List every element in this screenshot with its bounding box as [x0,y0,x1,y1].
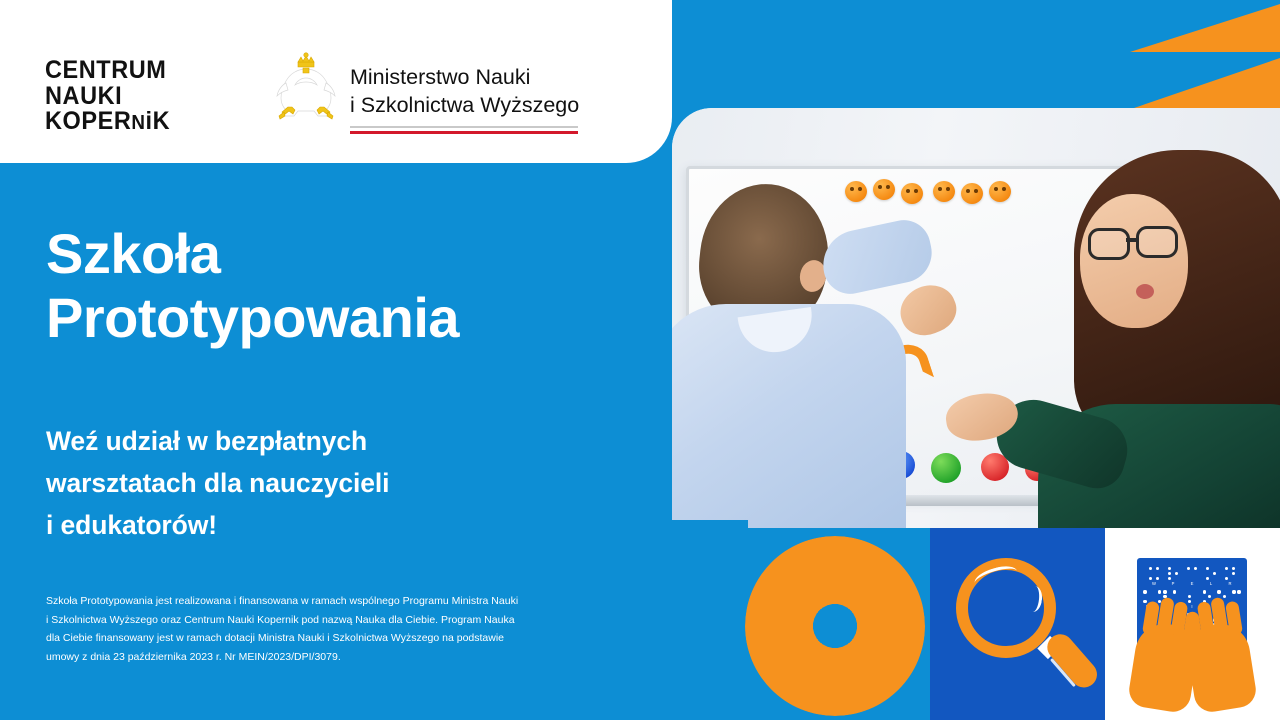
braille-dots [1224,567,1237,580]
headline-line-2: Prototypowania [46,286,459,350]
ministry-line-1: Ministerstwo Nauki [350,63,579,91]
headline-line-1: Szkoła [46,222,459,286]
polish-eagle-emblem [272,52,340,134]
braille-cell: W [1148,567,1161,586]
braille-letter-label: I [1188,604,1197,609]
face-magnet [845,181,867,202]
subhead-line-1: Weź udział w bezpłatnych [46,420,389,462]
braille-letter-label: R [1224,581,1237,586]
braille-letter-label: E [1186,581,1199,586]
cnk-line-3: KOPERNiK [45,109,170,137]
braille-hand-right [1184,620,1259,715]
teacher-face-front [1080,194,1188,328]
centrum-nauki-kopernik-logo: CENTRUM NAUKI KOPERNiK [45,58,170,137]
fineprint-line-3: dla Ciebie finansowany jest w ramach dot… [46,629,606,648]
ministerstwo-nauki-logo: Ministerstwo Nauki i Szkolnictwa Wyższeg… [272,52,579,134]
magnifying-glass-icon [930,528,1105,720]
fineprint-disclaimer: Szkoła Prototypowania jest realizowana i… [46,592,606,666]
braille-dots [1188,590,1197,603]
fineprint-line-4: umowy z dnia 23 października 2023 r. Nr … [46,648,606,667]
ministry-red-rule [350,131,578,135]
ministry-rules [350,126,578,134]
cnk-line-3-b: iK [146,107,171,135]
poster-root: CENTRUM NAUKI KOPERNiK [0,0,1280,720]
braille-cell: L [1205,567,1218,586]
subhead-line-3: i edukatorów! [46,504,389,546]
braille-letter-label: P [1167,581,1180,586]
braille-cell: E [1186,567,1199,586]
cnk-line-3-n: N [131,112,145,134]
braille-cell: R [1224,567,1237,586]
face-magnet [873,179,895,200]
fineprint-line-1: Szkoła Prototypowania jest realizowana i… [46,592,606,611]
face-magnet [933,181,955,202]
cnk-line-2: NAUKI [45,84,170,110]
workshop-photo [672,108,1280,528]
braille-dots [1167,567,1180,580]
cnk-line-1: CENTRUM [45,58,170,84]
braille-cell: P [1167,567,1180,586]
braille-dots [1148,567,1161,580]
braille-cell: I [1188,590,1197,609]
craft-ball [931,453,961,483]
face-magnet [989,181,1011,202]
photo-content [672,108,1280,528]
fineprint-line-2: i Szkolnictwa Wyższego oraz Centrum Nauk… [46,611,606,630]
page-subtitle: Weź udział w bezpłatnych warsztatach dla… [46,420,389,546]
orange-ring-icon [745,536,925,716]
ministry-line-2: i Szkolnictwa Wyższego [350,91,579,119]
braille-row: WPELR [1143,567,1241,586]
braille-dots [1205,567,1218,580]
ministry-text: Ministerstwo Nauki i Szkolnictwa Wyższeg… [350,52,579,134]
logos-row: CENTRUM NAUKI KOPERNiK [0,0,672,163]
boy-collar [738,307,817,357]
face-magnet [961,183,983,204]
header-band: CENTRUM NAUKI KOPERNiK [0,0,672,163]
braille-dots [1186,567,1199,580]
cnk-line-3-a: KOPER [45,107,131,135]
photo-bottom-fill [672,520,748,720]
page-title: Szkoła Prototypowania [46,222,459,350]
teacher-glasses-bridge [1126,238,1138,242]
ministry-grey-rule [350,126,578,128]
braille-letter-label: W [1148,581,1161,586]
subhead-line-2: warsztatach dla nauczycieli [46,462,389,504]
teacher-lips [1136,284,1154,299]
face-magnet [901,183,923,204]
braille-letter-label: L [1205,581,1218,586]
teacher-glasses-right [1136,226,1178,258]
braille-hands-icon: WPELR BRAILLE NAU [1105,528,1280,720]
teacher-glasses-left [1088,228,1130,260]
boy-shirt [672,304,906,528]
